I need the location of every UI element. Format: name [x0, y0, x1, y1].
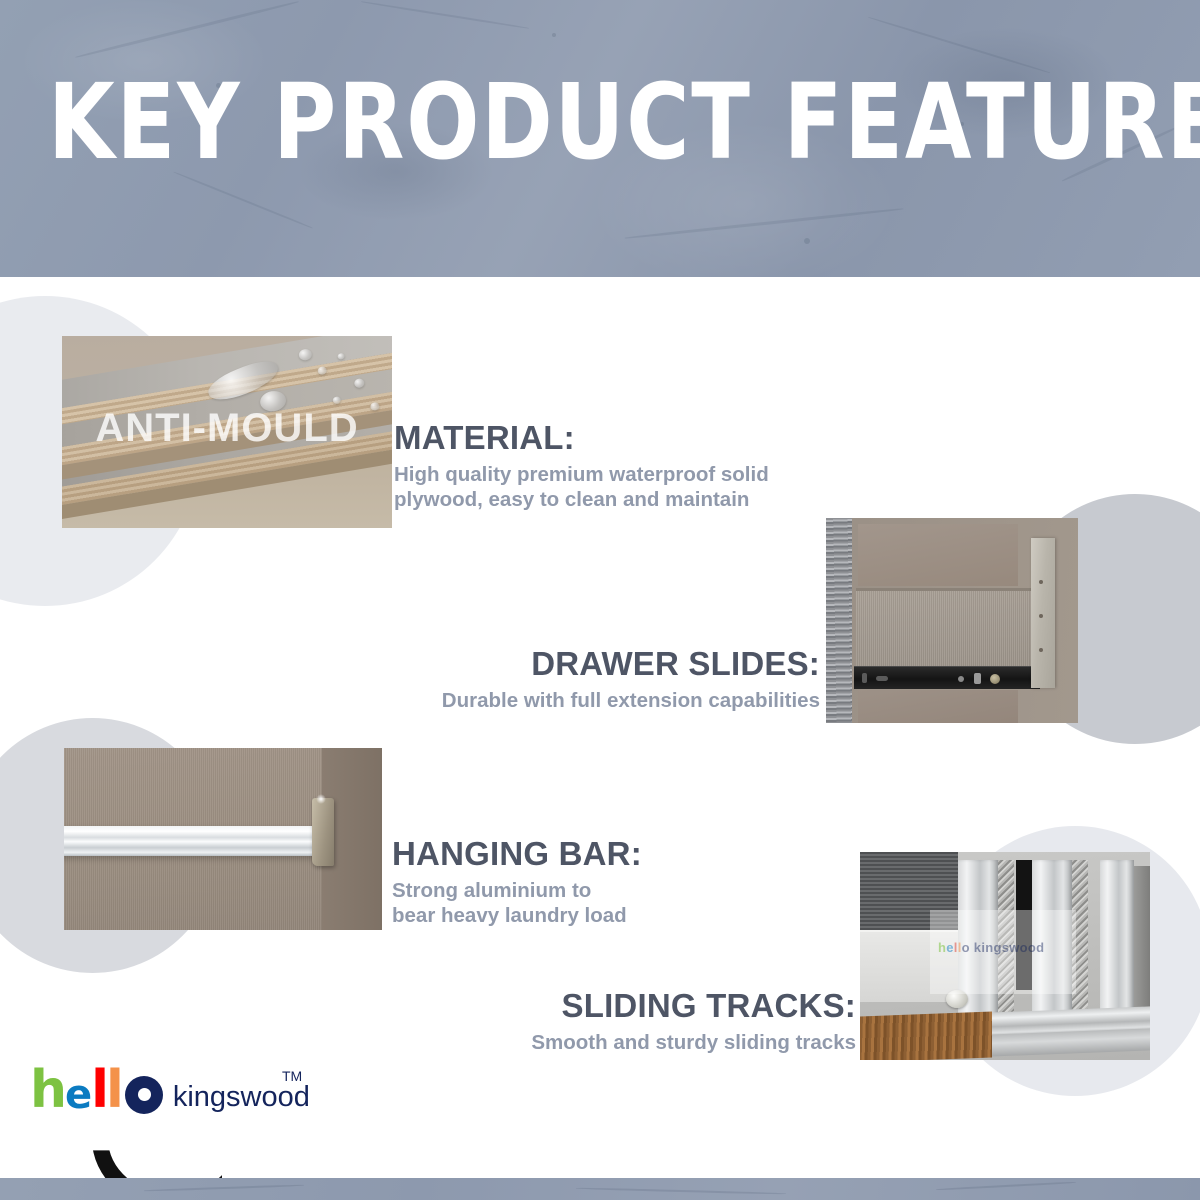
- texture-crack: [75, 0, 299, 58]
- feature-heading-hanging-bar: HANGING BAR:: [392, 834, 812, 874]
- anti-mould-overlay-label: ANTI-MOULD: [62, 406, 392, 451]
- feature-body-material-line1: High quality premium waterproof solid: [394, 462, 834, 487]
- wooden-plinth: [860, 1011, 992, 1060]
- cabinet-panel-upper: [858, 524, 1018, 586]
- hanging-bar-photo: [64, 748, 382, 930]
- logo-letter-l-orange: l: [106, 1064, 121, 1116]
- feature-body-drawer-slides: Durable with full extension capabilities: [360, 688, 820, 713]
- sliding-door-profile: [1100, 860, 1134, 1020]
- feature-text-sliding-tracks: SLIDING TRACKS: Smooth and sturdy slidin…: [466, 986, 856, 1055]
- plywood-stack-photo: ANTI-MOULD: [62, 336, 392, 528]
- texture-speck: [552, 33, 556, 37]
- feature-text-drawer-slides: DRAWER SLIDES: Durable with full extensi…: [360, 644, 820, 713]
- texture-crack: [936, 1181, 1076, 1190]
- infographic-canvas: KEY PRODUCT FEATURES ANTI-MOULD MATERIAL…: [0, 0, 1200, 1200]
- feature-text-material: MATERIAL: High quality premium waterproo…: [394, 418, 834, 512]
- trademark-symbol: TM: [282, 1068, 302, 1084]
- watermark-kingswood: kingswood: [974, 940, 1045, 955]
- aluminium-hanging-rail: [64, 826, 328, 856]
- logo-kingswood-text: kingswood: [173, 1081, 310, 1114]
- feature-heading-drawer-slides: DRAWER SLIDES:: [360, 644, 820, 684]
- logo-letter-o-circle: [125, 1076, 163, 1114]
- drawer-slide-rail: [854, 666, 1040, 689]
- logo-letter-e: e: [65, 1075, 91, 1115]
- rail-bracket: [312, 798, 334, 866]
- drawer-box: [856, 588, 1034, 669]
- drawer-front-panel: [1031, 538, 1055, 688]
- photo-watermark: hello kingswood: [938, 940, 1044, 955]
- feature-body-material-line2: plywood, easy to clean and maintain: [394, 487, 834, 512]
- page-title: KEY PRODUCT FEATURES: [48, 70, 1152, 174]
- feature-heading-material: MATERIAL:: [394, 418, 834, 458]
- texture-crack: [144, 1184, 304, 1192]
- drawer-slide-photo: [826, 518, 1078, 723]
- cabinet-side-panel: [826, 518, 852, 723]
- brand-logo[interactable]: h e l l kingswood TM: [30, 1064, 310, 1170]
- logo-wordmark: h e l l kingswood: [30, 1064, 310, 1116]
- texture-speck: [804, 238, 810, 244]
- logo-letter-l-red: l: [91, 1064, 106, 1116]
- cabinet-panel-lower: [858, 690, 1018, 723]
- feature-heading-sliding-tracks: SLIDING TRACKS:: [466, 986, 856, 1026]
- footer-band: [0, 1178, 1200, 1200]
- texture-crack: [576, 1187, 786, 1194]
- logo-letter-h: h: [30, 1064, 65, 1116]
- metal-glint: [316, 794, 326, 804]
- feature-body-hanging-bar-line2: bear heavy laundry load: [392, 903, 812, 928]
- sliding-track-photo: hello kingswood: [860, 852, 1150, 1060]
- feature-body-hanging-bar-line1: Strong aluminium to: [392, 878, 812, 903]
- feature-body-sliding-tracks: Smooth and sturdy sliding tracks: [466, 1030, 856, 1055]
- wardrobe-interior: [1134, 866, 1150, 1016]
- feature-text-hanging-bar: HANGING BAR: Strong aluminium to bear he…: [392, 834, 812, 928]
- texture-crack: [625, 207, 904, 239]
- texture-crack: [361, 1, 529, 30]
- logo-smile-icon: [92, 1118, 222, 1184]
